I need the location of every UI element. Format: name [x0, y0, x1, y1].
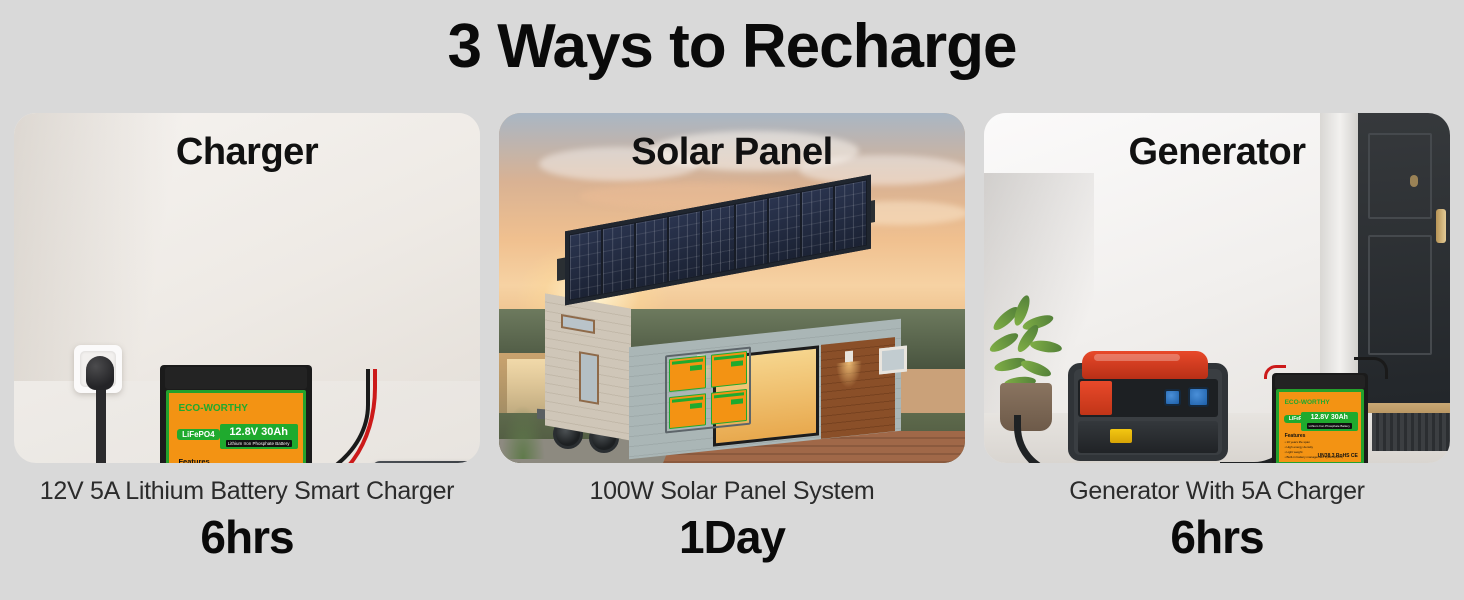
battery-spec-value: 12.8V 30Ah — [229, 426, 288, 438]
leaf — [987, 330, 1020, 356]
battery-brand: ECO-WORTHY — [178, 403, 247, 414]
panel-heading-solar: Solar Panel — [499, 131, 965, 174]
negative-lead-black — [1354, 357, 1388, 379]
panel-caption-generator: Generator With 5A Charger — [984, 477, 1450, 506]
battery-terminal-housing — [1275, 375, 1365, 389]
leaf — [1029, 339, 1062, 354]
door-mat — [1372, 413, 1450, 451]
battery-label: ECO-WORTHY LiFePO4 12.8V 30Ah Lithium Ir… — [166, 390, 306, 463]
battery-spec-value: 12.8V 30Ah — [1311, 414, 1348, 421]
solar-panel-module — [669, 211, 700, 281]
door-lock-icon — [1410, 175, 1418, 187]
rack-battery — [669, 393, 706, 429]
panel-charger-image: ECO-WORTHY LiFePO4 12.8V 30Ah Lithium Ir… — [14, 113, 480, 463]
panel-generator-image: ECO-WORTHY LiFePO4 12.8V 30Ah Lithium Ir… — [984, 113, 1450, 463]
front-window — [579, 351, 599, 405]
solar-panel-module — [603, 224, 634, 294]
house-window — [879, 346, 907, 375]
solar-panel-module — [702, 205, 733, 275]
rack-battery-grid — [669, 351, 747, 429]
solar-panel-module — [835, 181, 866, 251]
panel-solar: Solar Panel 100W Solar Panel System 1Day — [499, 113, 965, 564]
battery-terminal-housing — [165, 367, 308, 389]
panel-caption-solar: 100W Solar Panel System — [499, 477, 965, 506]
list-item: 10 years life span — [1285, 440, 1343, 444]
lifepo4-battery: ECO-WORTHY LiFePO4 12.8V 30Ah Lithium Ir… — [160, 365, 312, 463]
panel-duration-solar: 1Day — [499, 510, 965, 564]
battery-spec-badge: 12.8V 30Ah Lithium Iron Phosphate Batter… — [1301, 412, 1358, 431]
battery-features-heading: Features — [1285, 433, 1306, 439]
fuel-tank — [1082, 351, 1208, 379]
panel-duration-charger: 6hrs — [14, 510, 480, 564]
page-title: 3 Ways to Recharge — [0, 0, 1464, 79]
door-panel-lower — [1368, 235, 1432, 355]
solar-panel-module — [769, 193, 800, 263]
panel-row: ECO-WORTHY LiFePO4 12.8V 30Ah Lithium Ir… — [0, 113, 1464, 564]
solar-panel-module — [570, 230, 601, 300]
rack-battery — [711, 351, 748, 387]
door-handle — [1436, 209, 1446, 243]
battery-chemistry-badge: LiFePO4 — [177, 429, 219, 440]
battery-features-heading: Features — [178, 457, 209, 463]
battery-label: ECO-WORTHY LiFePO4 12.8V 30Ah Lithium Ir… — [1276, 389, 1364, 463]
rack-battery — [669, 355, 706, 391]
certification-marks: UN38.3 RoHS CE — [1318, 453, 1358, 459]
panel-generator: ECO-WORTHY LiFePO4 12.8V 30Ah Lithium Ir… — [984, 113, 1450, 564]
smart-battery-charger: ECO-WORTHY 12V SMART BATTERY CHARGER 12.… — [372, 461, 476, 463]
panel-heading-generator: Generator — [984, 131, 1450, 174]
panel-solar-image: Solar Panel — [499, 113, 965, 463]
battery-spec-subtitle: Lithium Iron Phosphate Battery — [226, 440, 292, 447]
gasoline-generator — [1068, 363, 1228, 461]
positive-cable-red — [302, 369, 377, 463]
generator-side-cover — [1080, 381, 1112, 415]
battery-brand: ECO-WORTHY — [1285, 399, 1330, 406]
solar-panel-module — [802, 187, 833, 257]
solar-panel-module — [736, 199, 767, 269]
rack-battery — [711, 388, 748, 424]
battery-spec-subtitle: Lithium Iron Phosphate Battery — [1307, 423, 1352, 429]
panel-duration-generator: 6hrs — [984, 510, 1450, 564]
engine-yellow-component — [1110, 429, 1132, 443]
potted-plant-foliage — [986, 303, 1072, 393]
power-plug-icon — [86, 356, 114, 390]
lifepo4-battery: ECO-WORTHY LiFePO4 12.8V 30Ah Lithium Ir… — [1272, 373, 1368, 463]
infographic-root: 3 Ways to Recharge ECO- — [0, 0, 1464, 79]
panel-caption-charger: 12V 5A Lithium Battery Smart Charger — [14, 477, 480, 506]
power-cord — [96, 385, 106, 463]
positive-lead-red — [1264, 365, 1286, 379]
power-outlet-socket — [1164, 389, 1181, 406]
battery-spec-badge: 12.8V 30Ah Lithium Iron Phosphate Batter… — [220, 424, 298, 449]
generator-engine-block — [1078, 421, 1218, 453]
solar-panel-module — [636, 217, 667, 287]
list-item: High energy density — [1285, 445, 1343, 449]
exterior-wall-lamp — [845, 351, 853, 363]
panel-heading-charger: Charger — [14, 131, 480, 174]
panel-charger: ECO-WORTHY LiFePO4 12.8V 30Ah Lithium Ir… — [14, 113, 480, 564]
battery-rack — [665, 346, 751, 433]
power-outlet-socket — [1188, 387, 1209, 407]
